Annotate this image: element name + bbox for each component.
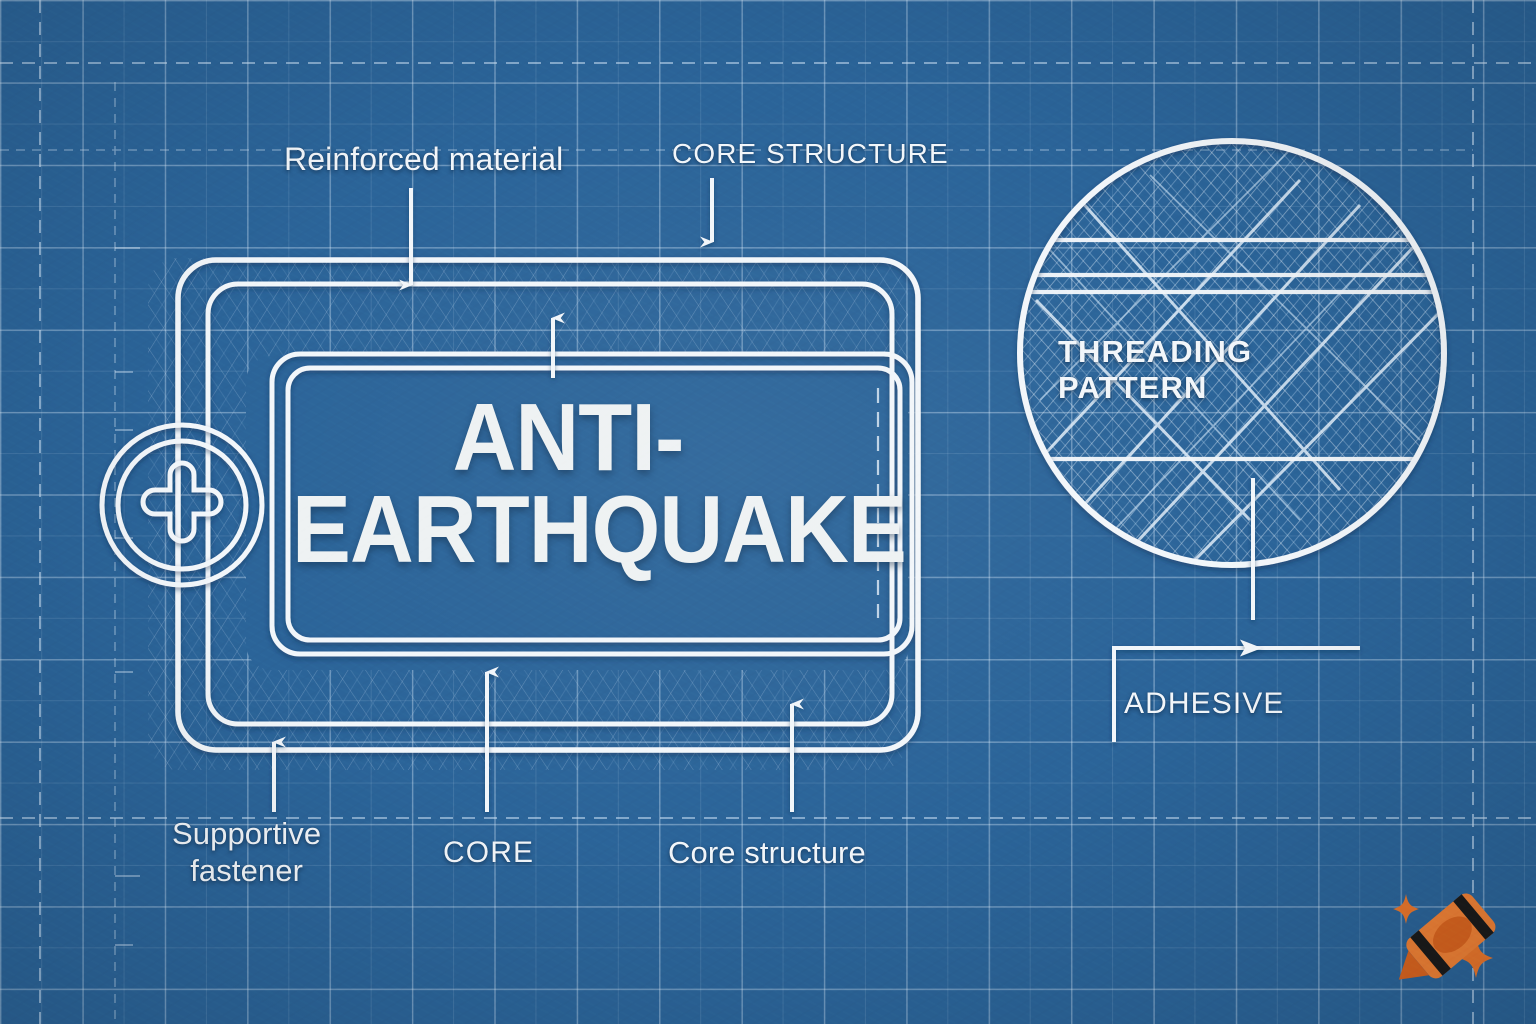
title-line-1: ANTI- — [453, 384, 684, 491]
craiyon-logo — [1376, 876, 1524, 1000]
threading-line-1: THREADING — [1058, 334, 1252, 369]
blueprint-canvas: ANTI-EARTHQUAKE Reinforced material CORE… — [0, 0, 1536, 1024]
fastener-line-2: fastener — [190, 853, 303, 888]
label-reinforced-material: Reinforced material — [284, 142, 563, 177]
label-supportive-fastener: Supportivefastener — [172, 816, 321, 889]
label-threading-pattern: THREADINGPATTERN — [1058, 334, 1252, 406]
title-line-2: EARTHQUAKE — [292, 476, 906, 583]
label-core-structure-bottom: Core structure — [668, 836, 866, 870]
label-core-structure-top: CORE STRUCTURE — [672, 139, 949, 170]
registration-ticks — [115, 248, 140, 945]
page-title: ANTI-EARTHQUAKE — [292, 392, 844, 576]
threading-line-2: PATTERN — [1058, 370, 1208, 405]
label-core: CORE — [443, 836, 534, 869]
fastener-line-1: Supportive — [172, 816, 321, 851]
label-adhesive: ADHESIVE — [1124, 687, 1285, 720]
